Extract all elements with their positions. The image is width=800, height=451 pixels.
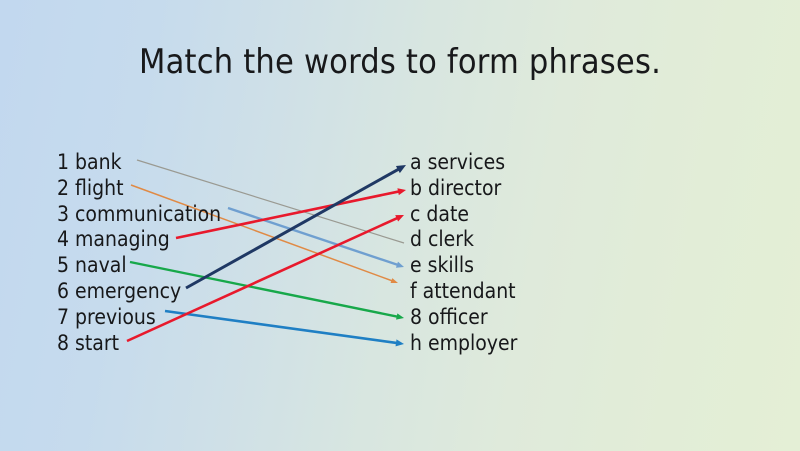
slide-canvas: Match the words to form phrases. 1 bank … [0, 0, 800, 451]
right-item-h[interactable]: h employer [410, 331, 517, 357]
right-item-f[interactable]: f attendant [410, 279, 517, 305]
left-item-2[interactable]: 2 flight [57, 176, 221, 202]
left-item-7[interactable]: 7 previous [57, 305, 221, 331]
left-item-8[interactable]: 8 start [57, 331, 221, 357]
right-item-c[interactable]: c date [410, 202, 517, 228]
page-title: Match the words to form phrases. [0, 42, 800, 82]
connector-emergency-to-services-arrowhead-icon [396, 165, 406, 173]
left-word-column: 1 bank 2 flight 3 communication 4 managi… [57, 150, 221, 356]
left-item-5[interactable]: 5 naval [57, 253, 221, 279]
right-item-a[interactable]: a services [410, 150, 517, 176]
connector-previous-to-employer-arrowhead-icon [396, 339, 404, 346]
right-item-e[interactable]: e skills [410, 253, 517, 279]
right-word-column: a services b director c date d clerk e s… [410, 150, 517, 356]
left-item-3[interactable]: 3 communication [57, 202, 221, 228]
connector-start-to-date-arrowhead-icon [395, 215, 404, 222]
left-item-4[interactable]: 4 managing [57, 227, 221, 253]
connector-naval-to-officer-arrowhead-icon [396, 313, 404, 319]
left-item-6[interactable]: 6 emergency [57, 279, 221, 305]
connector-managing-to-director-arrowhead-icon [397, 188, 406, 195]
right-item-b[interactable]: b director [410, 176, 517, 202]
connector-communication-to-skills [228, 208, 404, 268]
left-item-1[interactable]: 1 bank [57, 150, 221, 176]
connector-flight-to-skills-arrowhead-icon [391, 278, 398, 283]
connector-communication-to-skills-line [228, 208, 399, 265]
connector-communication-to-skills-arrowhead-icon [396, 262, 404, 268]
right-item-g[interactable]: 8 officer [410, 305, 517, 331]
right-item-d[interactable]: d clerk [410, 227, 517, 253]
